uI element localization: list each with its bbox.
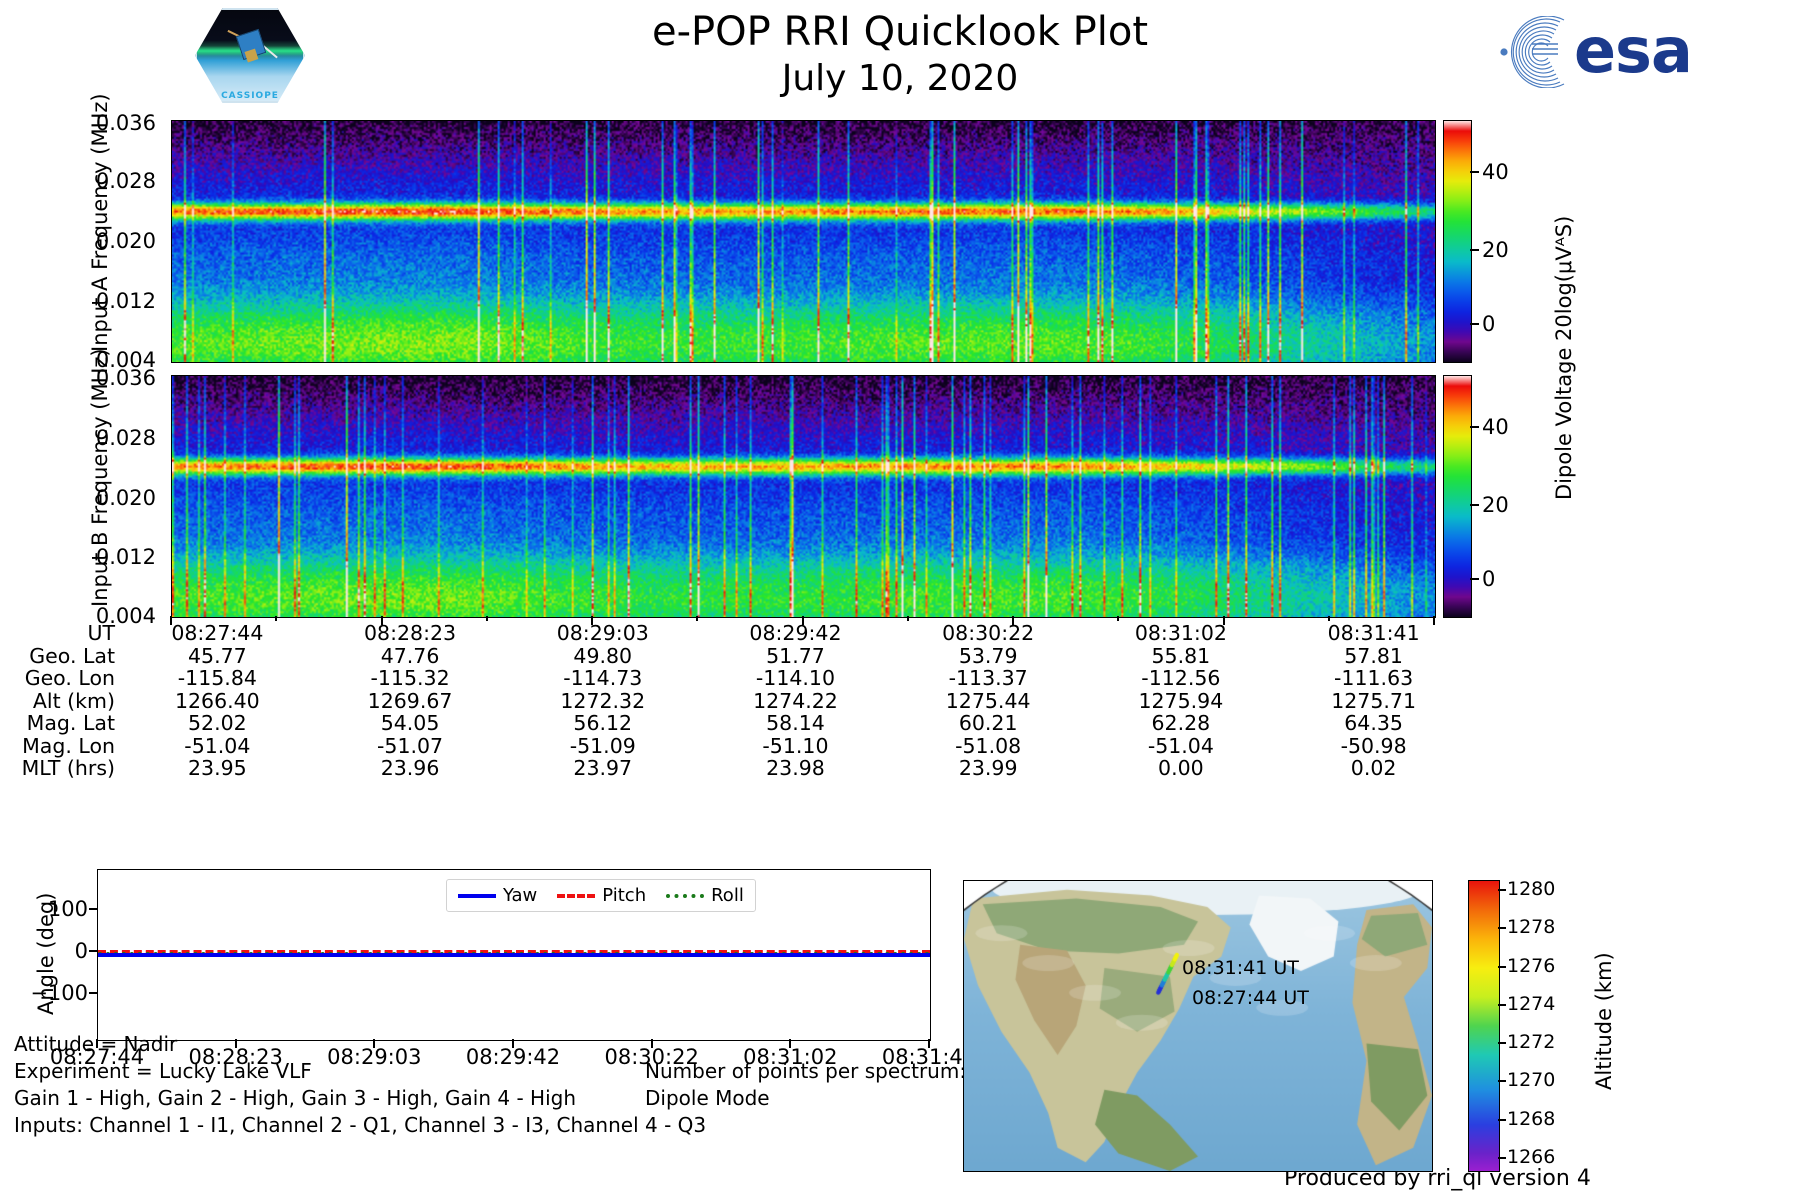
spec-a-ytick-0028: 0.028: [46, 169, 156, 193]
table-row-label: MLT (hrs): [0, 757, 121, 780]
spec-a-ytick-0020: 0.020: [46, 229, 156, 253]
table-cell: 1275.44: [892, 690, 1085, 713]
colorbar-axis-title: Dipole Voltage 20log(μVᴬS): [1552, 216, 1576, 500]
map-label-end: 08:31:41 UT: [1182, 957, 1299, 979]
spectrogram-xtickmark: [275, 616, 277, 621]
table-row: MLT (hrs)23.9523.9623.9723.9823.990.000.…: [0, 757, 1470, 780]
altitude-colorbar-tickmark: [1498, 1119, 1506, 1121]
colorbar-b-tickmark-0: [1470, 578, 1479, 580]
altitude-colorbar-tick: 1266: [1507, 1146, 1555, 1168]
map-label-start: 08:27:44 UT: [1192, 987, 1309, 1009]
table-cell: -115.84: [121, 667, 314, 690]
table-cell: 23.97: [506, 757, 699, 780]
table-cell: 62.28: [1085, 712, 1278, 735]
spectrogram-xtickmark: [696, 616, 698, 621]
legend-label-roll: Roll: [711, 885, 744, 906]
table-cell: 1269.67: [314, 690, 507, 713]
attitude-xtickmark: [512, 1039, 514, 1048]
attitude-legend[interactable]: Yaw Pitch Roll: [446, 879, 756, 912]
attitude-xtick: 08:29:03: [304, 1045, 444, 1069]
table-row: Mag. Lat52.0254.0556.1258.1460.2162.2864…: [0, 712, 1470, 735]
table-cell: 23.99: [892, 757, 1085, 780]
altitude-colorbar-tickmark: [1498, 1157, 1506, 1159]
table-cell: 23.95: [121, 757, 314, 780]
altitude-colorbar-tick: 1276: [1507, 955, 1555, 977]
table-cell: 23.96: [314, 757, 507, 780]
legend-label-yaw: Yaw: [503, 885, 537, 906]
colorbar-a-tick-0: 0: [1482, 312, 1495, 336]
footer-inputs: Inputs: Channel 1 - I1, Channel 2 - Q1, …: [14, 1113, 706, 1137]
footer-experiment: Experiment = Lucky Lake VLF: [14, 1059, 312, 1083]
spectrogram-xtickmark: [486, 616, 488, 621]
spectrogram-xtickmark: [1433, 616, 1435, 625]
colorbar-b-tickmark-20: [1470, 504, 1479, 506]
altitude-colorbar-tickmark: [1498, 966, 1506, 968]
ephemeris-table: UT08:27:4408:28:2308:29:0308:29:4208:30:…: [0, 622, 1470, 780]
spectrogram-xtickmark: [1223, 616, 1225, 625]
table-cell: -51.04: [1085, 735, 1278, 758]
altitude-colorbar-tickmark: [1498, 889, 1506, 891]
spec-b-ytick-0028: 0.028: [46, 426, 156, 450]
legend-swatch-yaw: [458, 894, 496, 898]
footer-attitude: Attitude = Nadir: [14, 1032, 177, 1056]
table-row: Geo. Lat45.7747.7649.8051.7753.7955.8157…: [0, 645, 1470, 668]
table-cell: 51.77: [699, 645, 892, 668]
table-cell: 54.05: [314, 712, 507, 735]
spectrogram-xtickmark: [170, 616, 172, 625]
altitude-colorbar-tick: 1272: [1507, 1031, 1555, 1053]
table-cell: 57.81: [1277, 645, 1470, 668]
colorbar-a-tickmark-0: [1470, 323, 1479, 325]
table-cell: 53.79: [892, 645, 1085, 668]
spectrogram-xtickmark: [381, 616, 383, 625]
attitude-line-yaw: [98, 953, 930, 957]
table-cell: -51.09: [506, 735, 699, 758]
table-cell: 45.77: [121, 645, 314, 668]
patch-border: [195, 8, 305, 103]
table-cell: -113.37: [892, 667, 1085, 690]
altitude-colorbar-tick: 1278: [1507, 916, 1555, 938]
table-row-label: Mag. Lat: [0, 712, 121, 735]
colorbar-b-tick-20: 20: [1482, 493, 1509, 517]
table-row-label: Geo. Lat: [0, 645, 121, 668]
table-row-label: Mag. Lon: [0, 735, 121, 758]
table-cell: 1275.94: [1085, 690, 1278, 713]
spec-b-ytick-0020: 0.020: [46, 486, 156, 510]
table-cell: 08:29:03: [506, 622, 699, 645]
altitude-colorbar-tickmark: [1498, 927, 1506, 929]
attitude-ytick-0: 0: [0, 939, 88, 963]
legend-label-pitch: Pitch: [602, 885, 646, 906]
table-cell: -51.08: [892, 735, 1085, 758]
attitude-xtick: 08:29:42: [443, 1045, 583, 1069]
attitude-ytick-neg100: −100: [0, 981, 88, 1005]
table-cell: 49.80: [506, 645, 699, 668]
spectrogram-xtickmark: [907, 616, 909, 621]
spec-b-ytick-0036: 0.036: [46, 366, 156, 390]
table-row-label: Alt (km): [0, 690, 121, 713]
spectrogram-a-canvas: [172, 121, 1435, 362]
spectrogram-a-plot[interactable]: [171, 120, 1436, 363]
spectrogram-b-canvas: [172, 376, 1435, 617]
esa-logo: esa: [1482, 12, 1712, 92]
table-cell: 1266.40: [121, 690, 314, 713]
colorbar-b: [1443, 375, 1472, 618]
colorbar-a-tick-40: 40: [1482, 160, 1509, 184]
esa-swirl-icon: [1482, 16, 1568, 88]
table-cell: 08:29:42: [699, 622, 892, 645]
table-row: UT08:27:4408:28:2308:29:0308:29:4208:30:…: [0, 622, 1470, 645]
colorbar-a-tickmark-40: [1470, 171, 1479, 173]
altitude-colorbar-tickmark: [1498, 1080, 1506, 1082]
table-cell: 52.02: [121, 712, 314, 735]
table-cell: -51.04: [121, 735, 314, 758]
colorbar-b-tick-40: 40: [1482, 415, 1509, 439]
table-cell: 08:31:02: [1085, 622, 1278, 645]
legend-swatch-roll: [666, 894, 704, 898]
altitude-colorbar-tick: 1270: [1507, 1069, 1555, 1091]
esa-wordmark: esa: [1574, 20, 1692, 82]
spectrogram-xtickmark: [591, 616, 593, 625]
attitude-plot[interactable]: Yaw Pitch Roll: [97, 869, 931, 1041]
footer-gains: Gain 1 - High, Gain 2 - High, Gain 3 - H…: [14, 1086, 576, 1110]
table-cell: -51.07: [314, 735, 507, 758]
colorbar-b-tickmark-40: [1470, 426, 1479, 428]
table-row-label: Geo. Lon: [0, 667, 121, 690]
ephemeris-table-body: UT08:27:4408:28:2308:29:0308:29:4208:30:…: [0, 622, 1470, 780]
colorbar-b-tick-0: 0: [1482, 567, 1495, 591]
attitude-xtickmark: [789, 1039, 791, 1048]
orbit-map[interactable]: 08:31:41 UT 08:27:44 UT: [963, 880, 1433, 1172]
footer-mode: Dipole Mode: [645, 1086, 770, 1110]
table-cell: 08:27:44: [121, 622, 314, 645]
altitude-colorbar-tick: 1268: [1507, 1108, 1555, 1130]
table-row-label: UT: [0, 622, 121, 645]
table-cell: 64.35: [1277, 712, 1470, 735]
table-cell: -115.32: [314, 667, 507, 690]
table-row: Alt (km)1266.401269.671272.321274.221275…: [0, 690, 1470, 713]
attitude-xtickmark: [651, 1039, 653, 1048]
spectrogram-xtickmark: [1117, 616, 1119, 621]
attitude-ytick-100: 100: [0, 897, 88, 921]
legend-item-yaw[interactable]: Yaw: [458, 885, 537, 906]
table-cell: 1275.71: [1277, 690, 1470, 713]
orbit-map-canvas: [964, 881, 1432, 1171]
table-cell: 1272.32: [506, 690, 699, 713]
altitude-colorbar: [1468, 880, 1500, 1172]
colorbar-a-tick-20: 20: [1482, 238, 1509, 262]
table-cell: 0.00: [1085, 757, 1278, 780]
attitude-xtickmark: [928, 1039, 930, 1048]
attitude-xtickmark: [373, 1039, 375, 1048]
table-cell: 1274.22: [699, 690, 892, 713]
altitude-colorbar-tickmark: [1498, 1004, 1506, 1006]
spectrogram-b-plot[interactable]: [171, 375, 1436, 618]
table-cell: 56.12: [506, 712, 699, 735]
table-cell: -114.73: [506, 667, 699, 690]
table-cell: 55.81: [1085, 645, 1278, 668]
table-cell: 08:31:41: [1277, 622, 1470, 645]
legend-swatch-pitch: [557, 894, 595, 898]
spectrogram-xtickmark: [1328, 616, 1330, 621]
table-cell: -51.10: [699, 735, 892, 758]
legend-item-roll[interactable]: Roll: [666, 885, 744, 906]
altitude-colorbar-title: Altitude (km): [1592, 952, 1616, 1090]
attitude-xtickmark: [235, 1039, 237, 1048]
table-row: Geo. Lon-115.84-115.32-114.73-114.10-113…: [0, 667, 1470, 690]
cassiope-mission-patch-icon: CASSIOPE: [195, 8, 305, 103]
spectrogram-xtickmark: [802, 616, 804, 625]
table-cell: -50.98: [1277, 735, 1470, 758]
altitude-colorbar-tick: 1280: [1507, 878, 1555, 900]
legend-item-pitch[interactable]: Pitch: [557, 885, 646, 906]
table-cell: -111.63: [1277, 667, 1470, 690]
table-cell: 08:30:22: [892, 622, 1085, 645]
table-cell: 58.14: [699, 712, 892, 735]
spec-a-ytick-0036: 0.036: [46, 111, 156, 135]
spec-b-ytick-0012: 0.012: [46, 545, 156, 569]
table-cell: 0.02: [1277, 757, 1470, 780]
altitude-colorbar-tick: 1274: [1507, 993, 1555, 1015]
table-cell: -112.56: [1085, 667, 1278, 690]
spec-a-ytick-0012: 0.012: [46, 289, 156, 313]
table-row: Mag. Lon-51.04-51.07-51.09-51.10-51.08-5…: [0, 735, 1470, 758]
table-cell: -114.10: [699, 667, 892, 690]
spectrogram-xtickmark: [1012, 616, 1014, 625]
table-cell: 23.98: [699, 757, 892, 780]
altitude-colorbar-tickmark: [1498, 1042, 1506, 1044]
table-cell: 08:28:23: [314, 622, 507, 645]
table-cell: 47.76: [314, 645, 507, 668]
table-cell: 60.21: [892, 712, 1085, 735]
colorbar-a: [1443, 120, 1472, 363]
colorbar-a-tickmark-20: [1470, 249, 1479, 251]
